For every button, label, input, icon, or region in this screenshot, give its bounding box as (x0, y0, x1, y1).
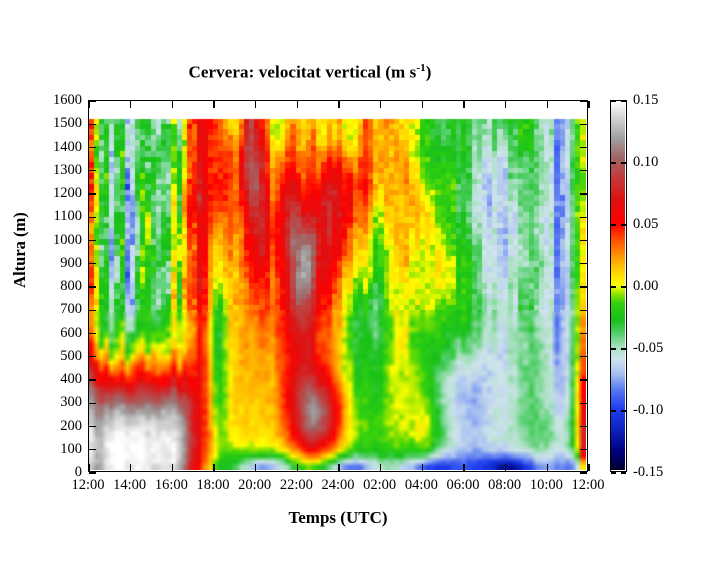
y-tick-label: 1300 (38, 163, 82, 178)
y-tick-mark-right (580, 263, 587, 264)
colorbar-tick-label: 0.10 (633, 155, 691, 170)
y-tick-label: 1600 (38, 93, 82, 108)
colorbar-tick-mark-right (621, 162, 626, 164)
y-tick-mark (89, 193, 96, 194)
colorbar-tick-mark (611, 100, 616, 102)
y-tick-mark (89, 472, 96, 473)
y-tick-mark (89, 286, 96, 287)
y-tick-label: 400 (38, 372, 82, 387)
y-tick-mark-right (580, 472, 587, 473)
x-tick-mark (547, 464, 548, 471)
x-tick-mark-top (297, 101, 298, 108)
x-tick-mark-top (255, 101, 256, 108)
y-tick-mark (89, 100, 96, 101)
y-tick-mark-right (580, 240, 587, 241)
x-tick-mark-top (172, 101, 173, 108)
x-axis-tick-labels: 12:0014:0016:0018:0020:0022:0024:0002:00… (88, 478, 588, 498)
y-tick-label: 600 (38, 326, 82, 341)
y-tick-label: 700 (38, 302, 82, 317)
y-tick-mark-right (580, 217, 587, 218)
y-tick-mark (89, 449, 96, 450)
x-tick-mark-top (213, 101, 214, 108)
colorbar-tick-mark (611, 472, 616, 474)
colorbar-tick-mark-right (621, 286, 626, 288)
y-tick-mark (89, 426, 96, 427)
y-tick-label: 500 (38, 349, 82, 364)
y-tick-mark-right (580, 170, 587, 171)
y-tick-label: 800 (38, 279, 82, 294)
colorbar (610, 100, 627, 472)
y-tick-mark (89, 333, 96, 334)
chart-title-main: Cervera: velocitat vertical (m s (188, 63, 416, 82)
x-tick-mark (172, 464, 173, 471)
colorbar-tick-labels: -0.15-0.10-0.050.000.050.100.15 (633, 100, 693, 472)
y-tick-mark (89, 124, 96, 125)
y-tick-mark-right (580, 286, 587, 287)
colorbar-tick-label: -0.10 (633, 403, 691, 418)
x-tick-mark (422, 464, 423, 471)
y-tick-mark-right (580, 379, 587, 380)
x-tick-mark (130, 464, 131, 471)
colorbar-tick-label: -0.15 (633, 465, 691, 480)
y-tick-mark (89, 356, 96, 357)
y-tick-mark-right (580, 356, 587, 357)
colorbar-tick-mark-right (621, 348, 626, 350)
colorbar-tick-label: 0.05 (633, 217, 691, 232)
colorbar-tick-mark (611, 286, 616, 288)
y-tick-label: 1400 (38, 140, 82, 155)
y-tick-mark (89, 170, 96, 171)
x-tick-mark-top (88, 101, 89, 108)
x-axis-title: Temps (UTC) (88, 508, 588, 528)
x-tick-mark-top (547, 101, 548, 108)
y-tick-mark (89, 263, 96, 264)
x-tick-mark-top (588, 101, 589, 108)
page-title: Cervera: velocitat vertical (m s-1) (0, 62, 620, 83)
x-tick-mark-top (422, 101, 423, 108)
x-tick-mark (88, 464, 89, 471)
y-tick-label: 900 (38, 256, 82, 271)
y-tick-mark-right (580, 124, 587, 125)
y-tick-mark-right (580, 403, 587, 404)
y-tick-mark-right (580, 333, 587, 334)
y-tick-label: 100 (38, 442, 82, 457)
y-tick-label: 1200 (38, 186, 82, 201)
chart-title-superscript: -1 (416, 62, 425, 74)
x-tick-mark (505, 464, 506, 471)
x-tick-mark (297, 464, 298, 471)
y-tick-mark-right (580, 310, 587, 311)
y-tick-mark-right (580, 147, 587, 148)
colorbar-tick-mark (611, 162, 616, 164)
colorbar-tick-mark (611, 348, 616, 350)
y-tick-mark (89, 403, 96, 404)
x-tick-mark (255, 464, 256, 471)
x-tick-mark (338, 464, 339, 471)
y-tick-label: 300 (38, 395, 82, 410)
heatmap-canvas (89, 101, 586, 470)
x-tick-mark (213, 464, 214, 471)
y-tick-mark-right (580, 449, 587, 450)
y-tick-label: 200 (38, 419, 82, 434)
x-tick-mark (463, 464, 464, 471)
x-tick-mark-top (505, 101, 506, 108)
x-tick-mark (380, 464, 381, 471)
y-tick-mark (89, 147, 96, 148)
colorbar-tick-mark-right (621, 472, 626, 474)
y-tick-mark (89, 217, 96, 218)
colorbar-tick-mark (611, 410, 616, 412)
y-tick-mark-right (580, 426, 587, 427)
colorbar-tick-label: 0.00 (633, 279, 691, 294)
colorbar-tick-label: 0.15 (633, 93, 691, 108)
y-tick-mark (89, 379, 96, 380)
colorbar-tick-mark-right (621, 224, 626, 226)
x-tick-mark-top (380, 101, 381, 108)
colorbar-tick-mark-right (621, 410, 626, 412)
x-tick-mark (588, 464, 589, 471)
y-tick-label: 1000 (38, 233, 82, 248)
colorbar-tick-mark-right (621, 100, 626, 102)
y-tick-label: 1100 (38, 209, 82, 224)
x-tick-label: 12:00 (558, 478, 618, 493)
x-tick-mark-top (338, 101, 339, 108)
chart-title-suffix: ) (426, 63, 432, 82)
y-tick-mark-right (580, 100, 587, 101)
y-axis-tick-labels: 0100200300400500600700800900100011001200… (34, 100, 82, 472)
y-tick-mark (89, 310, 96, 311)
y-tick-mark (89, 240, 96, 241)
x-tick-mark-top (463, 101, 464, 108)
colorbar-tick-label: -0.05 (633, 341, 691, 356)
x-tick-mark-top (130, 101, 131, 108)
y-tick-label: 1500 (38, 116, 82, 131)
colorbar-tick-mark (611, 224, 616, 226)
y-axis-title: Altura (m) (10, 190, 30, 310)
y-tick-mark-right (580, 193, 587, 194)
chart-root: Cervera: velocitat vertical (m s-1) 0100… (0, 0, 705, 576)
plot-area (88, 100, 588, 472)
